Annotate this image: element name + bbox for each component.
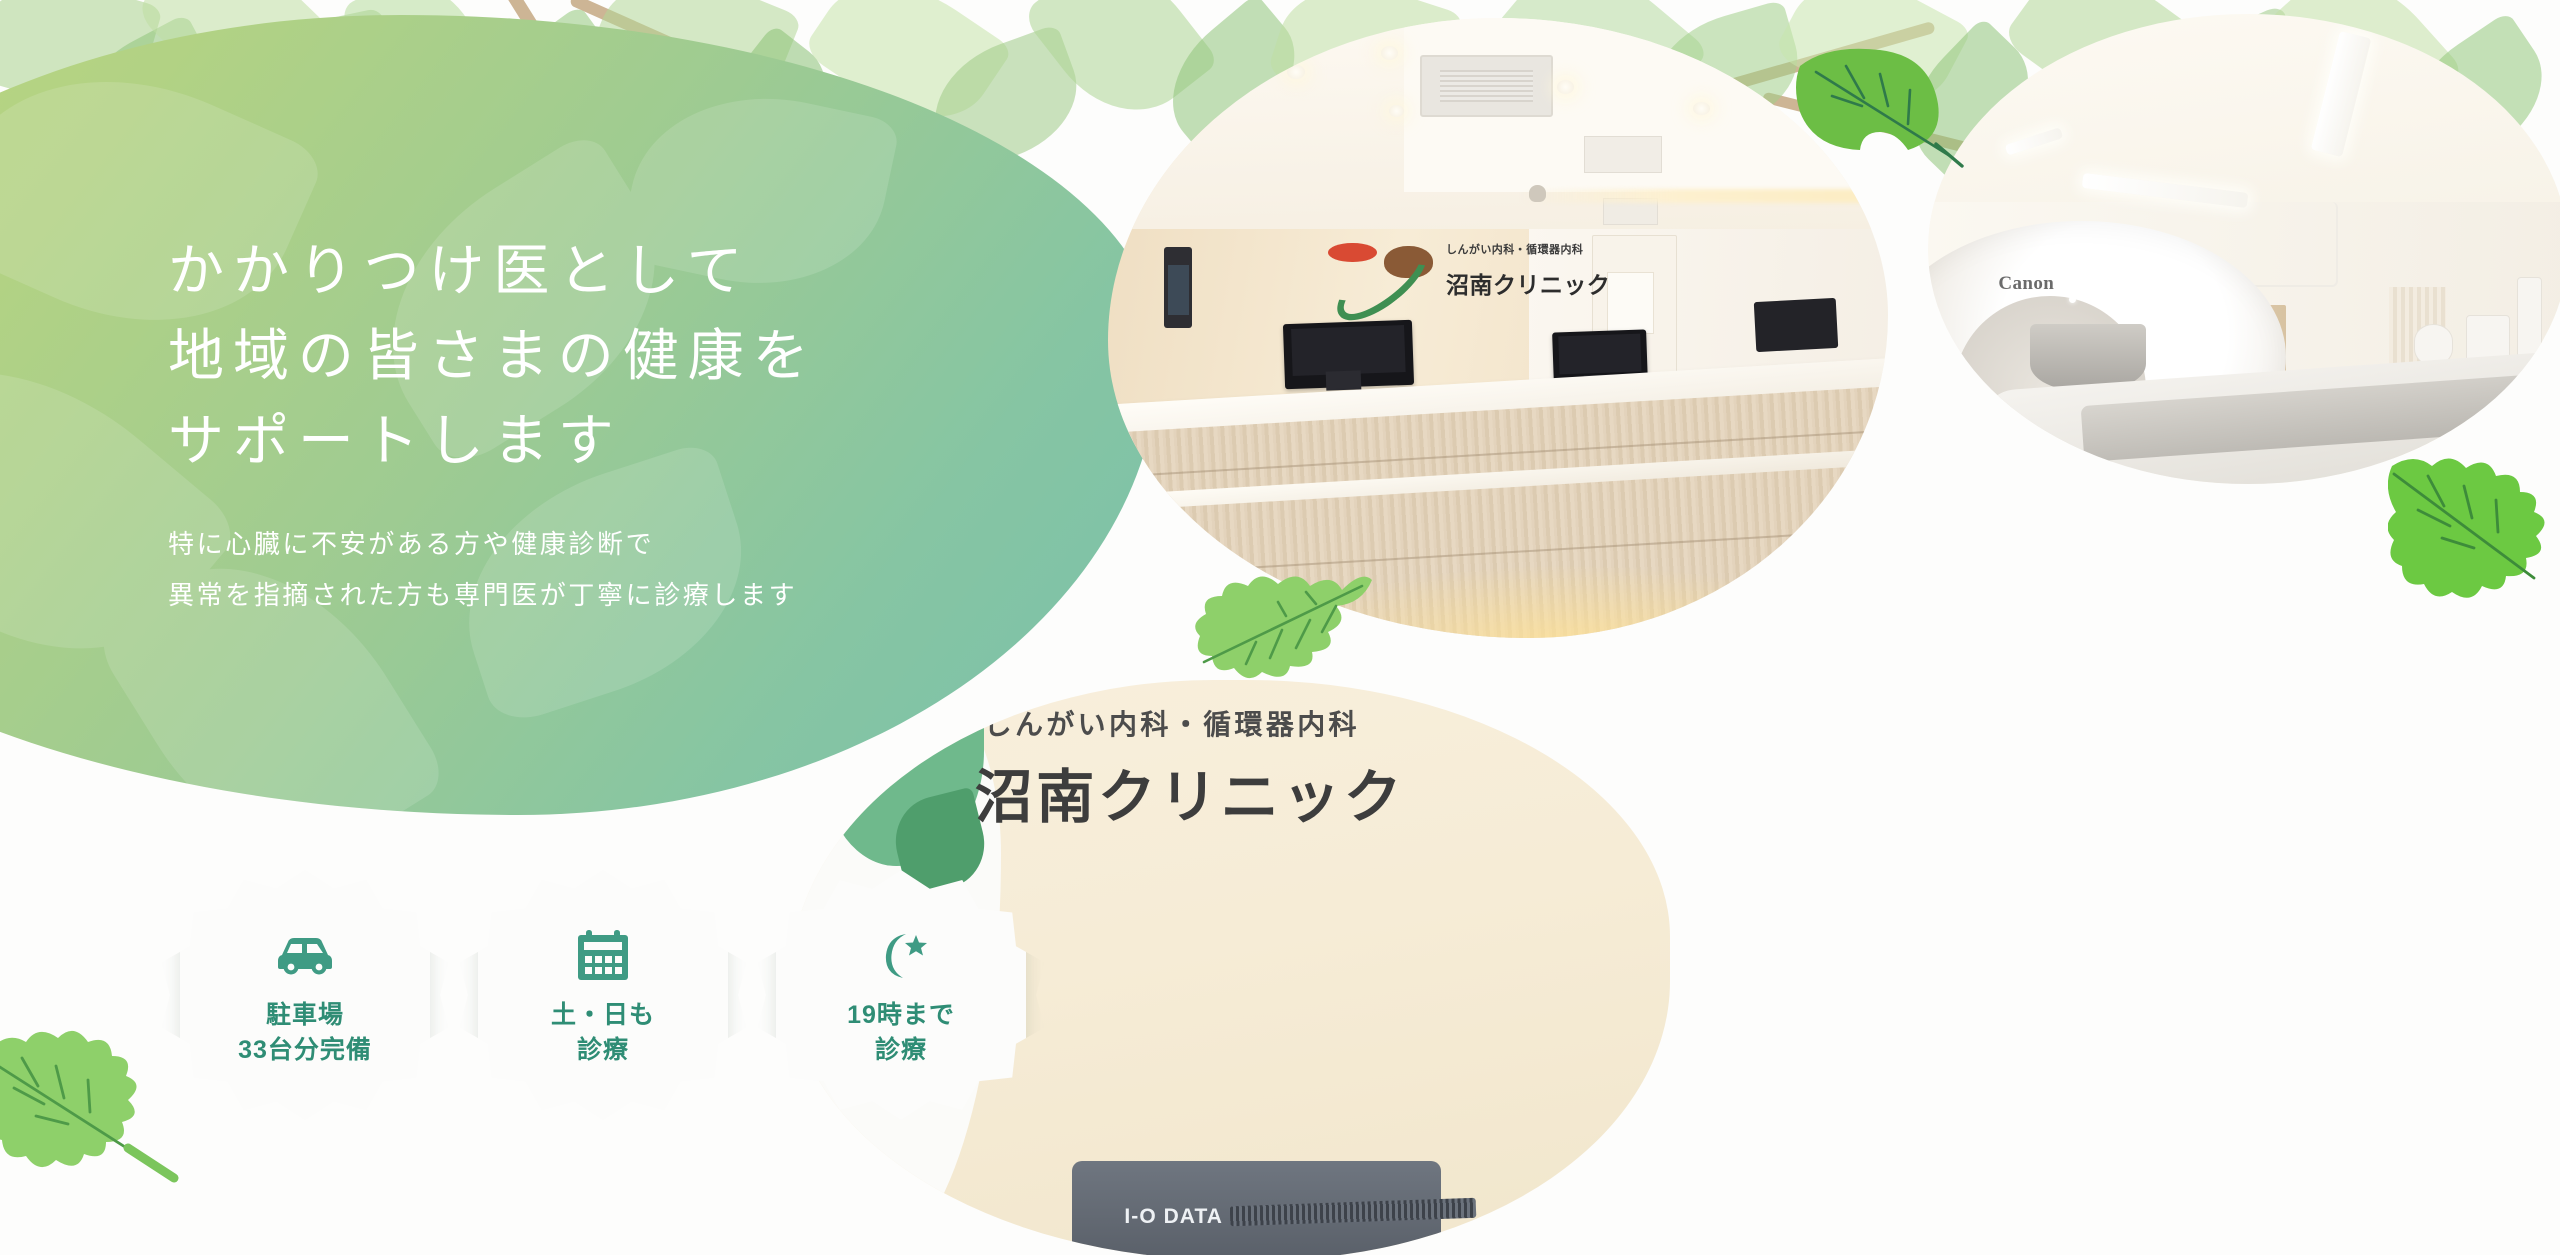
headline-line-3: サポートします: [168, 398, 1128, 483]
headline-line-2: 地域の皆さまの健康を: [168, 313, 1128, 398]
badge-shape: [776, 870, 1026, 1120]
badge-parking-line2: 33台分完備: [238, 1033, 372, 1069]
leaf-bottom-left-icon: [0, 1012, 188, 1197]
logo-subtitle: しんがい内科・循環器内科: [1446, 241, 1583, 257]
badge-weekend-line2: 診療: [551, 1033, 655, 1069]
badge-weekend-text: 土・日も 診療: [551, 998, 655, 1069]
hero-banner: かかりつけ医として 地域の皆さまの健康を サポートします 特に心臓に不安がある方…: [0, 0, 2560, 1255]
badge-weekend[interactable]: 土・日も 診療: [478, 870, 728, 1120]
logo-dot-icon: [1328, 243, 1377, 262]
badge-parking[interactable]: 駐車場 33台分完備: [180, 870, 430, 1120]
ct-scanner-room-photo: Canon: [1928, 14, 2560, 484]
hero-headline: かかりつけ医として 地域の皆さまの健康を サポートします: [168, 228, 1128, 483]
wall-sign-title: 沼南クリニック: [975, 750, 1405, 834]
badge-evening-text: 19時まで 診療: [847, 998, 955, 1069]
badge-parking-text: 駐車場 33台分完備: [238, 998, 372, 1069]
logo-title: 沼南クリニック: [1446, 266, 1610, 300]
clinic-logo-sign: しんがい内科・循環器内科 沼南クリニック: [1323, 238, 1580, 312]
moon-star-icon: [872, 922, 930, 988]
staff-monitor-brand: I-O DATA: [1124, 1205, 1223, 1229]
leaf-top-right-icon: [1788, 44, 1968, 184]
badge-shape: [478, 870, 728, 1120]
car-icon: [274, 922, 336, 988]
ct-machine-brand: Canon: [1998, 273, 2054, 295]
badge-evening-line2: 診療: [847, 1033, 955, 1069]
leaf-mid-left-icon: [1186, 566, 1386, 699]
feature-badges: 駐車場 33台分完備: [180, 870, 1026, 1120]
calendar-icon: [575, 922, 631, 988]
leaf-right-edge-icon: [2388, 458, 2560, 613]
badge-shape: [180, 870, 430, 1120]
subcopy-line-2: 異常を指摘された方も専門医が丁寧に診療します: [168, 570, 1128, 621]
reception-counter-photo: しんがい内科・循環器内科 沼南クリニック: [1108, 18, 1888, 638]
subcopy-line-1: 特に心臓に不安がある方や健康診断で: [168, 519, 1128, 570]
badge-weekend-line1: 土・日も: [551, 998, 655, 1034]
hero-subcopy: 特に心臓に不安がある方や健康診断で 異常を指摘された方も専門医が丁寧に診療します: [168, 519, 1128, 620]
hero-copy: かかりつけ医として 地域の皆さまの健康を サポートします 特に心臓に不安がある方…: [168, 228, 1128, 621]
wall-sign-subtitle: しんがい内科・循環器内科: [984, 703, 1360, 743]
badge-parking-line1: 駐車場: [238, 998, 372, 1034]
badge-evening-hours[interactable]: 19時まで 診療: [776, 870, 1026, 1120]
headline-line-1: かかりつけ医として: [168, 228, 1128, 313]
badge-evening-line1: 19時まで: [847, 998, 955, 1034]
